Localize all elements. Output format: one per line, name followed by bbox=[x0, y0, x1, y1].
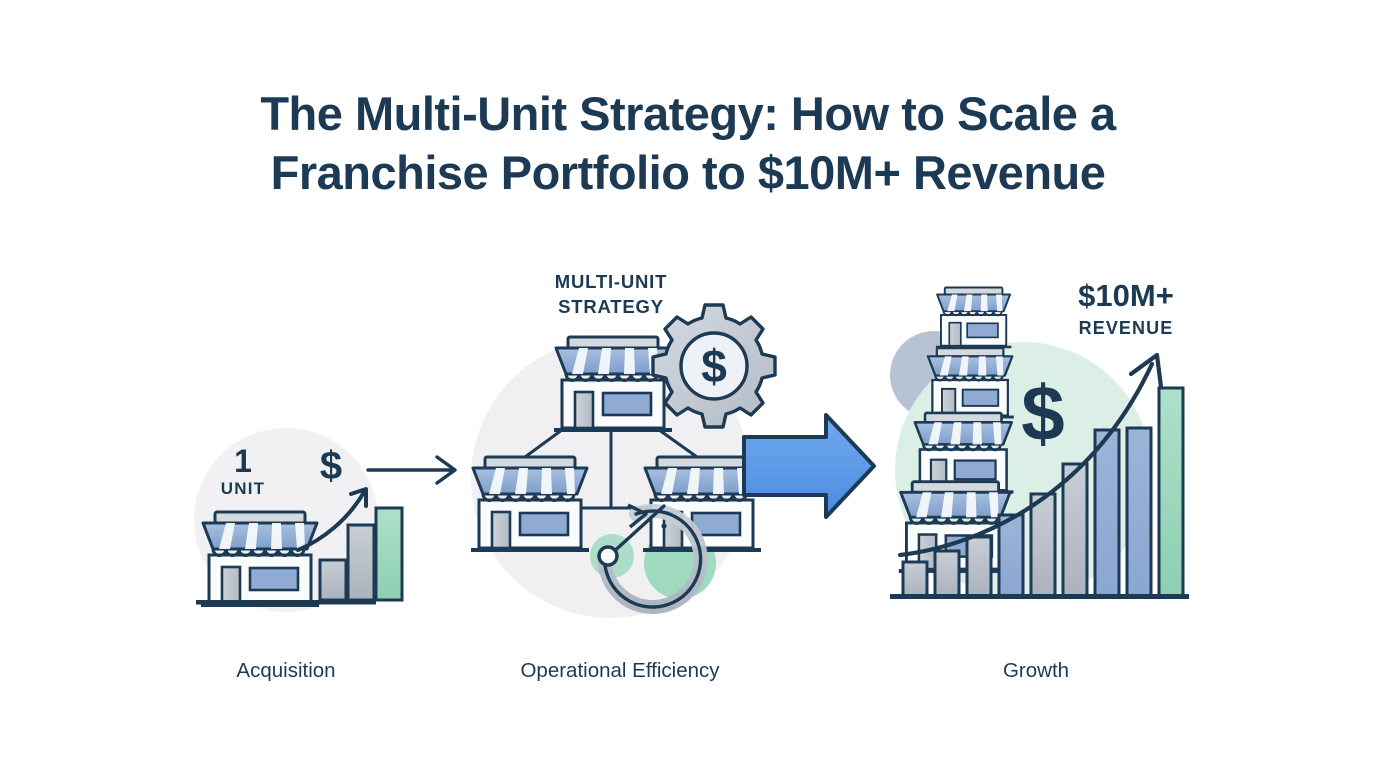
caption-operational-efficiency: Operational Efficiency bbox=[520, 659, 719, 683]
stage3-storefront-3-icon bbox=[926, 348, 1013, 418]
stage2-label-line-2: STRATEGY bbox=[558, 296, 664, 317]
stage-acquisition: 1 UNIT $ bbox=[194, 428, 402, 612]
stage2-gear-dollar-symbol: $ bbox=[701, 340, 727, 392]
stage3-badge-unit: REVENUE bbox=[1079, 318, 1174, 338]
stage2-storefront-top-icon bbox=[554, 337, 672, 432]
stage-growth: $ $10M+ REVENUE bbox=[890, 278, 1189, 599]
stage1-storefront-icon bbox=[201, 512, 319, 607]
stage-operational-efficiency: $ MULTI-UNIT STRATEGY bbox=[471, 271, 775, 618]
caption-acquisition: Acquisition bbox=[236, 659, 335, 683]
stage3-badge-amount: $10M+ bbox=[1078, 278, 1174, 313]
stage2-storefront-left-icon bbox=[471, 457, 589, 552]
stage1-dollar-icon: $ bbox=[320, 444, 342, 488]
stage3-dollar-icon: $ bbox=[1021, 369, 1064, 457]
stage3-storefront-4-icon bbox=[936, 287, 1012, 348]
stage2-gear-dollar-icon: $ bbox=[653, 305, 775, 427]
infographic-canvas: The Multi-Unit Strategy: How to Scale a … bbox=[0, 0, 1376, 768]
connector-thin-arrow-icon bbox=[368, 457, 455, 483]
stage1-badge-number: 1 bbox=[234, 443, 252, 479]
connector-block-arrow-icon bbox=[744, 415, 874, 517]
stage2-label-line-1: MULTI-UNIT bbox=[555, 271, 667, 292]
stage1-badge-unit: UNIT bbox=[221, 479, 265, 498]
caption-growth: Growth bbox=[1003, 659, 1069, 683]
diagram-illustration: 1 UNIT $ bbox=[0, 0, 1376, 768]
